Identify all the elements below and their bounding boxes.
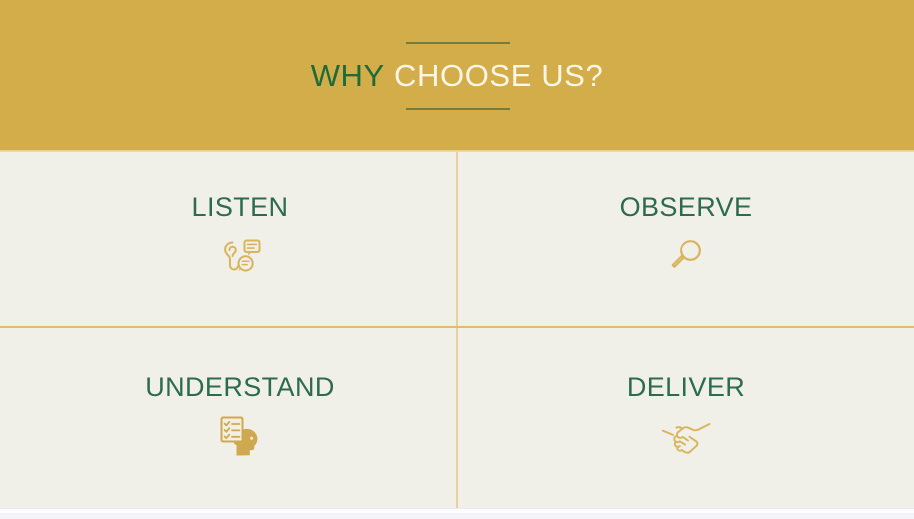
grid-cell-deliver-label: DELIVER xyxy=(627,374,745,401)
grid-cell-understand-label: UNDERSTAND xyxy=(145,374,335,401)
handshake-icon xyxy=(658,413,714,459)
head-checklist-icon xyxy=(216,413,264,459)
grid-cell-listen-label: LISTEN xyxy=(192,194,289,221)
page-title-rest: CHOOSE US? xyxy=(394,58,603,93)
title-rule-bottom-decoration xyxy=(406,108,510,110)
grid-cell-observe-label: OBSERVE xyxy=(620,194,753,221)
grid-cell-listen: LISTEN xyxy=(0,194,456,279)
magnifying-glass-icon xyxy=(666,233,706,279)
page-title: WHY CHOOSE US? xyxy=(311,60,604,91)
grid-cell-observe: OBSERVE xyxy=(458,194,914,279)
ear-speech-bubbles-icon xyxy=(217,233,263,279)
feature-grid: LISTEN xyxy=(0,152,914,508)
grid-cell-deliver: DELIVER xyxy=(458,374,914,459)
grid-cell-understand: UNDERSTAND xyxy=(0,374,456,459)
bottom-strip-shade xyxy=(0,513,914,519)
why-choose-us-section: WHY CHOOSE US? LISTEN xyxy=(0,0,914,519)
header-content: WHY CHOOSE US? xyxy=(0,0,914,152)
grid-horizontal-divider xyxy=(0,326,914,328)
page-title-emphasis: WHY xyxy=(311,58,385,93)
title-rule-top-decoration xyxy=(406,42,510,44)
